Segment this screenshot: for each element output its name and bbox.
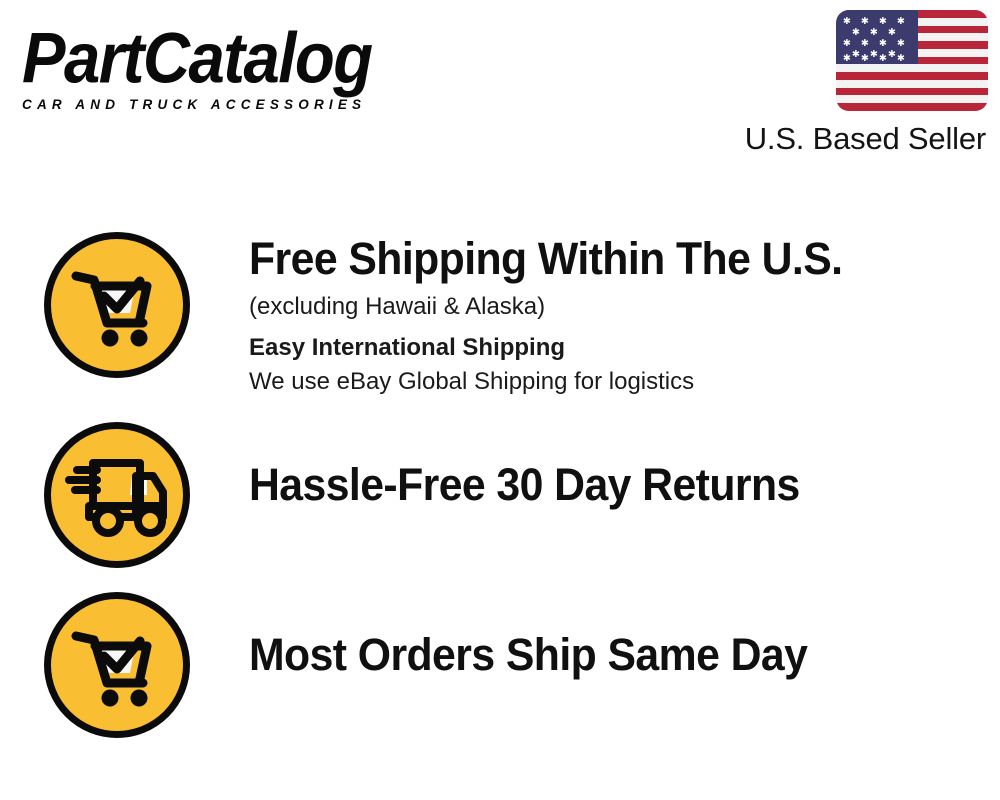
us-based-seller-label: U.S. Based Seller bbox=[688, 122, 986, 156]
logo-tagline: CAR AND TRUCK ACCESSORIES bbox=[22, 97, 492, 112]
feature-subtext-international: Easy International Shipping bbox=[249, 331, 1000, 364]
feature-row-returns: Hassle-Free 30 Day Returns bbox=[0, 422, 1000, 568]
us-flag-icon: ✱ ✱ ✱ ✱ ✱ ✱ ✱ ✱ ✱ ✱ ✱ ✱ ✱ ✱ ✱ ✱ ✱ ✱ bbox=[836, 10, 988, 111]
shopping-cart-check-icon bbox=[44, 592, 190, 738]
feature-subtext-logistics: We use eBay Global Shipping for logistic… bbox=[249, 365, 1000, 398]
feature-text-block: Most Orders Ship Same Day bbox=[249, 592, 1000, 680]
feature-heading: Hassle-Free 30 Day Returns bbox=[249, 460, 962, 510]
feature-row-free-shipping: Free Shipping Within The U.S. (excluding… bbox=[0, 232, 1000, 398]
logo-wordmark: PartCatalog bbox=[22, 22, 501, 94]
feature-heading: Free Shipping Within The U.S. bbox=[249, 234, 962, 284]
feature-subtext-exclusions: (excluding Hawaii & Alaska) bbox=[249, 290, 1000, 323]
brand-logo[interactable]: PartCatalog CAR AND TRUCK ACCESSORIES bbox=[22, 22, 492, 112]
us-based-seller-badge: ✱ ✱ ✱ ✱ ✱ ✱ ✱ ✱ ✱ ✱ ✱ ✱ ✱ ✱ ✱ ✱ ✱ ✱ U.S.… bbox=[688, 10, 988, 156]
feature-heading: Most Orders Ship Same Day bbox=[249, 630, 962, 680]
delivery-truck-icon bbox=[44, 422, 190, 568]
feature-row-same-day-ship: Most Orders Ship Same Day bbox=[0, 592, 1000, 738]
shopping-cart-check-icon bbox=[44, 232, 190, 378]
feature-text-block: Hassle-Free 30 Day Returns bbox=[249, 422, 1000, 510]
feature-text-block: Free Shipping Within The U.S. (excluding… bbox=[249, 232, 1000, 398]
page-header: PartCatalog CAR AND TRUCK ACCESSORIES ✱ … bbox=[0, 0, 1000, 175]
